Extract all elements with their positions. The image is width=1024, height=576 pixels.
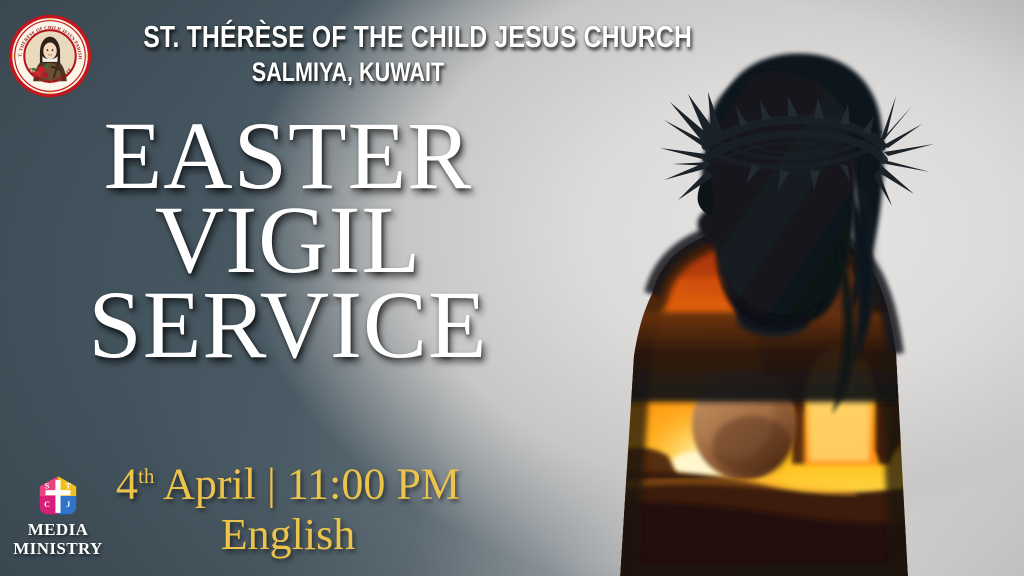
day-number: 4 xyxy=(116,460,138,509)
church-name: ST. THÉRÈSE OF THE CHILD JESUS CHURCH xyxy=(143,20,553,54)
ministry-line-1: MEDIA xyxy=(6,520,110,539)
logo-letter-t: T xyxy=(66,482,72,491)
day-suffix: th xyxy=(138,464,154,488)
event-date-time: 4th April | 11:00 PM xyxy=(52,452,524,509)
easter-vigil-poster: ST. THERESE OF CHILD JESUS PARISH SALMIY… xyxy=(0,0,1024,576)
event-time: 11:00 PM xyxy=(287,460,460,509)
media-ministry-cross-icon: S T C J xyxy=(36,474,80,518)
poster-header: ST. THERESE OF CHILD JESUS PARISH SALMIY… xyxy=(0,8,620,104)
title-line-3: SERVICE xyxy=(52,281,524,369)
church-location: SALMIYA, KUWAIT xyxy=(143,57,553,87)
logo-letter-c: C xyxy=(44,500,50,509)
event-language: English xyxy=(52,511,524,559)
logo-letter-j: J xyxy=(66,500,70,509)
logo-letter-s: S xyxy=(45,482,50,491)
month: April xyxy=(163,460,256,509)
church-seal-icon: ST. THERESE OF CHILD JESUS PARISH SALMIY… xyxy=(8,14,92,98)
separator: | xyxy=(267,460,276,509)
ministry-line-2: MINISTRY xyxy=(6,539,110,558)
event-details: 4th April | 11:00 PM English xyxy=(52,452,524,559)
poster-title: EASTER VIGIL SERVICE xyxy=(52,112,524,369)
media-ministry-block: S T C J MEDIA MINISTRY xyxy=(6,474,110,558)
